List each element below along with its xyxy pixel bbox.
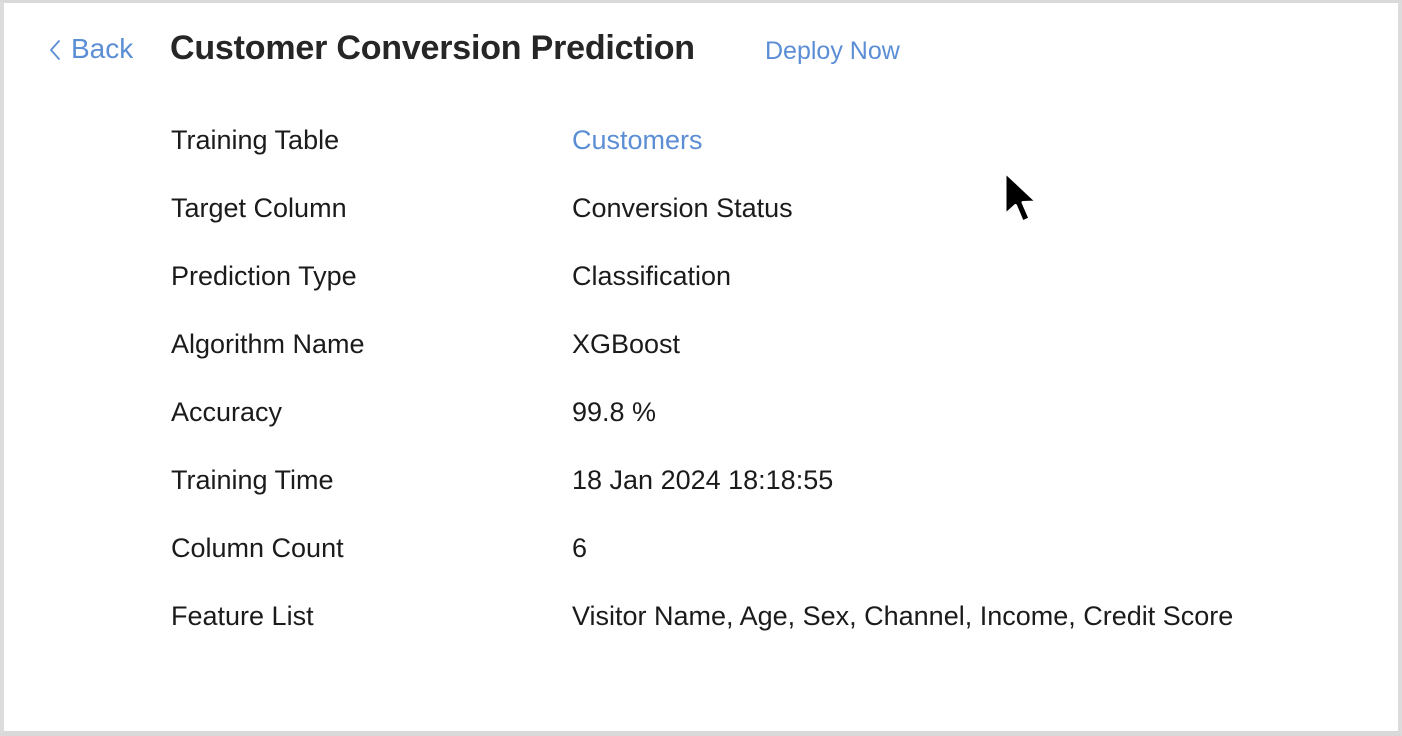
detail-label: Target Column (171, 193, 347, 224)
detail-row-training-time: Training Time 18 Jan 2024 18:18:55 (4, 465, 1398, 533)
detail-label: Feature List (171, 601, 314, 632)
back-label: Back (71, 35, 133, 63)
prediction-details-list: Training Table Customers Target Column C… (4, 125, 1398, 669)
detail-row-prediction-type: Prediction Type Classification (4, 261, 1398, 329)
detail-value: Conversion Status (572, 193, 793, 224)
detail-row-algorithm-name: Algorithm Name XGBoost (4, 329, 1398, 397)
page-frame: Back Customer Conversion Prediction Depl… (0, 0, 1402, 736)
detail-row-accuracy: Accuracy 99.8 % (4, 397, 1398, 465)
detail-row-target-column: Target Column Conversion Status (4, 193, 1398, 261)
detail-row-column-count: Column Count 6 (4, 533, 1398, 601)
chevron-left-icon (48, 39, 62, 61)
training-table-link[interactable]: Customers (572, 125, 703, 156)
deploy-now-button[interactable]: Deploy Now (765, 37, 900, 66)
detail-label: Prediction Type (171, 261, 357, 292)
detail-value: 18 Jan 2024 18:18:55 (572, 465, 833, 496)
detail-value: 99.8 % (572, 397, 656, 428)
detail-row-feature-list: Feature List Visitor Name, Age, Sex, Cha… (4, 601, 1398, 669)
detail-label: Training Table (171, 125, 339, 156)
detail-label: Algorithm Name (171, 329, 365, 360)
page-title: Customer Conversion Prediction (170, 29, 695, 68)
detail-value: Classification (572, 261, 731, 292)
detail-label: Accuracy (171, 397, 282, 428)
detail-value: XGBoost (572, 329, 680, 360)
detail-value: Visitor Name, Age, Sex, Channel, Income,… (572, 601, 1233, 632)
detail-value: 6 (572, 533, 587, 564)
back-button[interactable]: Back (48, 35, 133, 63)
detail-label: Column Count (171, 533, 344, 564)
detail-label: Training Time (171, 465, 334, 496)
detail-row-training-table: Training Table Customers (4, 125, 1398, 193)
page-header: Back Customer Conversion Prediction Depl… (4, 29, 1398, 91)
